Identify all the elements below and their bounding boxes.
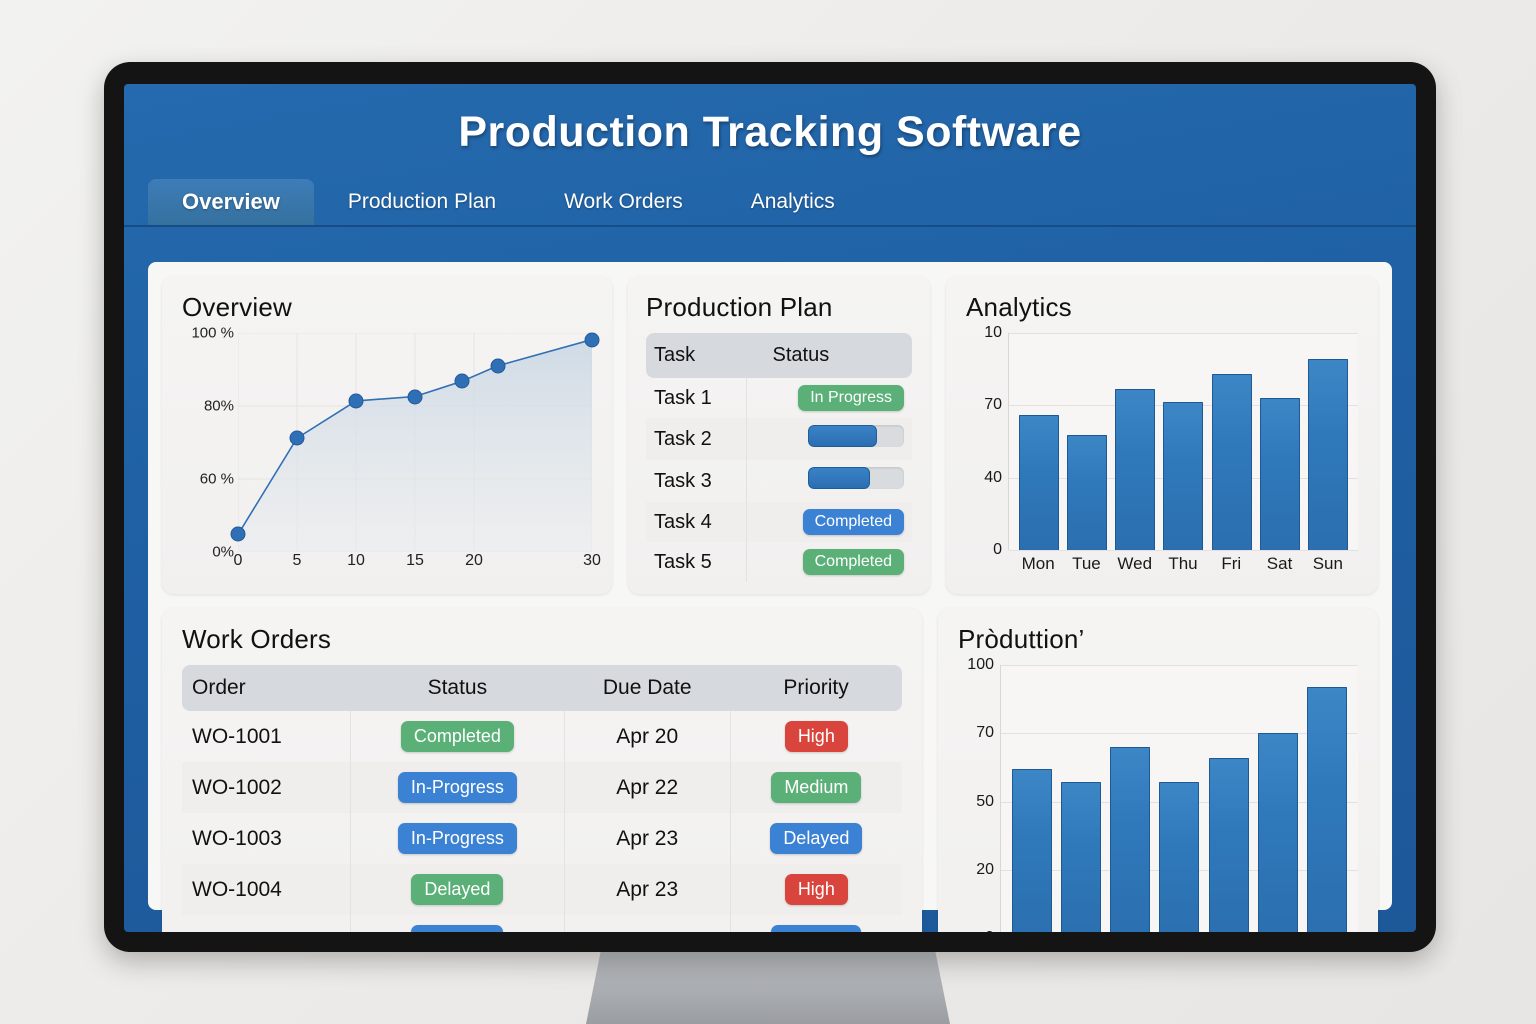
x-tick-label: Mon bbox=[1018, 554, 1058, 578]
x-tick-label: 0 bbox=[234, 552, 243, 570]
analytics-chart-plot bbox=[1008, 333, 1358, 550]
y-tick-label: 70 bbox=[976, 724, 994, 742]
status-badge-cell: Completed bbox=[747, 542, 912, 582]
priority-cell: Medium bbox=[730, 762, 902, 813]
table-row[interactable]: Task 2 bbox=[646, 418, 912, 460]
tab-overview[interactable]: Overview bbox=[148, 179, 314, 225]
y-tick-label: 10 bbox=[984, 324, 1002, 342]
x-tick-label: 20 bbox=[465, 552, 483, 570]
table-header-row: Task Status bbox=[646, 333, 912, 378]
table-row[interactable]: WO-1004DelayedApr 23High bbox=[182, 864, 902, 915]
panel-overview-title: Overview bbox=[182, 292, 592, 323]
panel-analytics: Analytics 0407010 MonTueWedThuFriSatSun bbox=[946, 276, 1378, 594]
y-tick-label: 0 bbox=[993, 541, 1002, 559]
y-tick-label: 20 bbox=[976, 861, 994, 879]
dashboard: Overview 0%60 %80%100 % 0510152030 Produ… bbox=[148, 262, 1392, 910]
priority-cell: High bbox=[730, 711, 902, 762]
column-header-order: Order bbox=[182, 665, 350, 711]
column-header-priority: Priority bbox=[730, 665, 902, 711]
due-date: Apr 24 bbox=[564, 915, 730, 932]
production-bar-chart: 0205070100 MonTueWedThuFriSatSun bbox=[958, 665, 1358, 932]
priority-badge: High bbox=[785, 721, 848, 752]
screen: Production Tracking Software Overview Pr… bbox=[124, 84, 1416, 932]
y-tick-label: 70 bbox=[984, 396, 1002, 414]
bar bbox=[1019, 415, 1059, 550]
status-cell: Delayed bbox=[350, 915, 564, 932]
work-orders-table: Order Status Due Date Priority WO-1001Co… bbox=[182, 665, 902, 932]
panel-work-orders: Work Orders Order Status Due Date Priori… bbox=[162, 608, 922, 932]
bar bbox=[1258, 733, 1298, 932]
overview-chart-x-axis: 0510152030 bbox=[238, 552, 592, 578]
order-id: WO-1006 bbox=[182, 915, 350, 932]
order-id: WO-1001 bbox=[182, 711, 350, 762]
data-point-marker bbox=[408, 389, 423, 404]
status-cell: Completed bbox=[350, 711, 564, 762]
production-plan-table: Task Status Task 1In ProgressTask 2Task … bbox=[646, 333, 912, 582]
due-date: Apr 22 bbox=[564, 762, 730, 813]
progress-bar bbox=[808, 425, 904, 447]
data-point-marker bbox=[290, 431, 305, 446]
due-date: Apr 23 bbox=[564, 813, 730, 864]
bar bbox=[1307, 687, 1347, 932]
grid-line bbox=[1001, 665, 1358, 666]
bar bbox=[1110, 747, 1150, 932]
overview-chart-plot bbox=[238, 333, 592, 552]
task-name: Task 2 bbox=[646, 418, 747, 460]
status-cell: In-Progress bbox=[350, 762, 564, 813]
table-row[interactable]: Task 5Completed bbox=[646, 542, 912, 582]
status-badge: In Progress bbox=[798, 385, 904, 411]
table-row[interactable]: Task 3 bbox=[646, 460, 912, 502]
task-name: Task 5 bbox=[646, 542, 747, 582]
monitor-stand bbox=[586, 952, 950, 1024]
panel-production: Pròduttion’ 0205070100 MonTueWedThuFriSa… bbox=[938, 608, 1378, 932]
order-id: WO-1003 bbox=[182, 813, 350, 864]
bar bbox=[1012, 769, 1052, 932]
priority-badge: High bbox=[785, 874, 848, 905]
panel-overview: Overview 0%60 %80%100 % 0510152030 bbox=[162, 276, 612, 594]
bar bbox=[1115, 389, 1155, 550]
y-tick-label: 100 bbox=[967, 656, 994, 674]
tab-work-orders[interactable]: Work Orders bbox=[530, 179, 717, 225]
x-tick-label: Fri bbox=[1211, 554, 1251, 578]
status-badge: Delayed bbox=[411, 874, 503, 905]
x-tick-label: 10 bbox=[347, 552, 365, 570]
bar bbox=[1163, 402, 1203, 550]
progress-fill bbox=[808, 467, 870, 489]
analytics-bar-chart: 0407010 MonTueWedThuFriSatSun bbox=[966, 333, 1358, 578]
order-id: WO-1002 bbox=[182, 762, 350, 813]
table-row[interactable]: Task 1In Progress bbox=[646, 378, 912, 418]
column-header-status: Status bbox=[350, 665, 564, 711]
priority-cell: High bbox=[730, 864, 902, 915]
analytics-chart-y-axis: 0407010 bbox=[966, 333, 1008, 550]
status-badge-cell: In Progress bbox=[747, 378, 912, 418]
x-tick-label: 5 bbox=[293, 552, 302, 570]
task-name: Task 4 bbox=[646, 502, 747, 542]
y-tick-label: 100 % bbox=[191, 325, 234, 342]
order-id: WO-1004 bbox=[182, 864, 350, 915]
table-row[interactable]: WO-1006DelayedApr 24Medium bbox=[182, 915, 902, 932]
page-title: Production Tracking Software bbox=[124, 84, 1416, 157]
status-badge: Completed bbox=[803, 509, 904, 535]
priority-cell: Medium bbox=[730, 915, 902, 932]
panel-analytics-title: Analytics bbox=[966, 292, 1358, 323]
data-point-marker bbox=[490, 358, 505, 373]
bar bbox=[1067, 435, 1107, 550]
status-badge: Delayed bbox=[411, 925, 503, 932]
column-header-status: Status bbox=[747, 333, 912, 378]
progress-bar bbox=[808, 467, 904, 489]
y-tick-label: 0% bbox=[212, 544, 234, 561]
panel-production-title: Pròduttion’ bbox=[958, 624, 1358, 655]
analytics-chart-x-axis: MonTueWedThuFriSatSun bbox=[1008, 550, 1358, 578]
y-tick-label: 60 % bbox=[200, 470, 234, 487]
progress-cell bbox=[747, 418, 912, 460]
priority-badge: Medium bbox=[771, 772, 861, 803]
data-point-marker bbox=[455, 374, 470, 389]
task-name: Task 3 bbox=[646, 460, 747, 502]
x-tick-label: 30 bbox=[583, 552, 601, 570]
x-tick-label: Thu bbox=[1163, 554, 1203, 578]
due-date: Apr 20 bbox=[564, 711, 730, 762]
y-tick-label: 40 bbox=[984, 469, 1002, 487]
column-header-due-date: Due Date bbox=[564, 665, 730, 711]
progress-cell bbox=[747, 460, 912, 502]
grid-line bbox=[1009, 333, 1358, 334]
x-tick-label: Sat bbox=[1260, 554, 1300, 578]
y-tick-label: 50 bbox=[976, 793, 994, 811]
data-point-marker bbox=[231, 527, 246, 542]
tab-production-plan[interactable]: Production Plan bbox=[314, 179, 530, 225]
y-tick-label: 0 bbox=[985, 929, 994, 932]
panel-work-orders-title: Work Orders bbox=[182, 624, 902, 655]
status-cell: Delayed bbox=[350, 864, 564, 915]
bar bbox=[1260, 398, 1300, 550]
production-chart-plot bbox=[1000, 665, 1358, 932]
column-header-task: Task bbox=[646, 333, 747, 378]
table-row[interactable]: WO-1001CompletedApr 20High bbox=[182, 711, 902, 762]
status-cell: In-Progress bbox=[350, 813, 564, 864]
priority-badge: Delayed bbox=[770, 823, 862, 854]
priority-badge: Medium bbox=[771, 925, 861, 932]
dashboard-row-bottom: Work Orders Order Status Due Date Priori… bbox=[162, 608, 1378, 932]
task-name: Task 1 bbox=[646, 378, 747, 418]
grid-line bbox=[1009, 550, 1358, 551]
production-chart-y-axis: 0205070100 bbox=[958, 665, 1000, 932]
overview-line-chart: 0%60 %80%100 % bbox=[182, 333, 592, 552]
bar bbox=[1212, 374, 1252, 550]
bar bbox=[1308, 359, 1348, 550]
bar bbox=[1209, 758, 1249, 932]
data-point-marker bbox=[349, 393, 364, 408]
panel-production-plan-title: Production Plan bbox=[646, 292, 912, 323]
data-point-marker bbox=[585, 332, 600, 347]
x-tick-label: Wed bbox=[1115, 554, 1155, 578]
progress-fill bbox=[808, 425, 877, 447]
grid-line bbox=[1001, 733, 1358, 734]
bar bbox=[1159, 782, 1199, 932]
x-tick-label: Sun bbox=[1308, 554, 1348, 578]
monitor-bezel: Production Tracking Software Overview Pr… bbox=[104, 62, 1436, 952]
table-row[interactable]: WO-1003In-ProgressApr 23Delayed bbox=[182, 813, 902, 864]
dashboard-row-top: Overview 0%60 %80%100 % 0510152030 Produ… bbox=[162, 276, 1378, 594]
tab-analytics[interactable]: Analytics bbox=[717, 179, 869, 225]
bar bbox=[1061, 782, 1101, 932]
status-badge: Completed bbox=[803, 549, 904, 575]
x-tick-label: 15 bbox=[406, 552, 424, 570]
table-row[interactable]: Task 4Completed bbox=[646, 502, 912, 542]
due-date: Apr 23 bbox=[564, 864, 730, 915]
production-plan-rows: Task 1In ProgressTask 2Task 3Task 4Compl… bbox=[646, 378, 912, 582]
status-badge-cell: Completed bbox=[747, 502, 912, 542]
status-badge: In-Progress bbox=[398, 772, 517, 803]
work-orders-rows: WO-1001CompletedApr 20HighWO-1002In-Prog… bbox=[182, 711, 902, 932]
table-row[interactable]: WO-1002In-ProgressApr 22Medium bbox=[182, 762, 902, 813]
status-badge: Completed bbox=[401, 721, 514, 752]
overview-chart-y-axis: 0%60 %80%100 % bbox=[182, 333, 238, 552]
priority-cell: Delayed bbox=[730, 813, 902, 864]
table-header-row: Order Status Due Date Priority bbox=[182, 665, 902, 711]
y-tick-label: 80% bbox=[204, 397, 234, 414]
tab-bar: Overview Production Plan Work Orders Ana… bbox=[124, 179, 1416, 227]
panel-production-plan: Production Plan Task Status Task 1In Pro… bbox=[628, 276, 930, 594]
status-badge: In-Progress bbox=[398, 823, 517, 854]
x-tick-label: Tue bbox=[1066, 554, 1106, 578]
